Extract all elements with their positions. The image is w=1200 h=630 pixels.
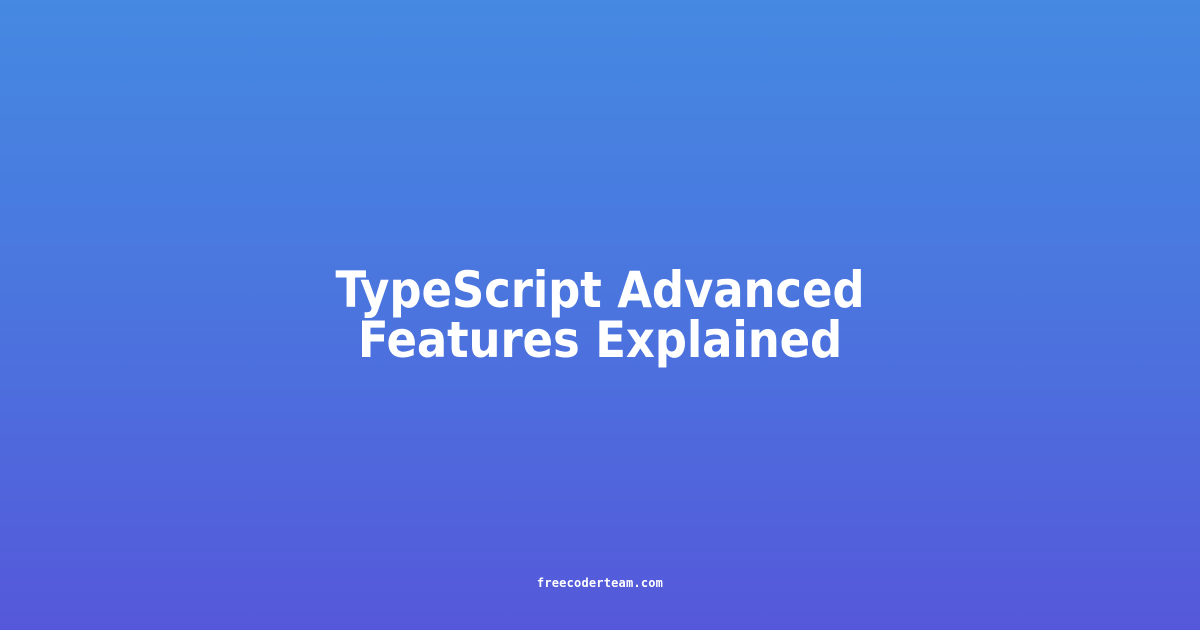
og-card: TypeScript Advanced Features Explained f…	[0, 0, 1200, 630]
page-title: TypeScript Advanced Features Explained	[220, 265, 980, 365]
title-block: TypeScript Advanced Features Explained	[220, 265, 980, 365]
footer-block: freecoderteam.com	[0, 576, 1200, 590]
site-domain-label: freecoderteam.com	[537, 576, 663, 590]
